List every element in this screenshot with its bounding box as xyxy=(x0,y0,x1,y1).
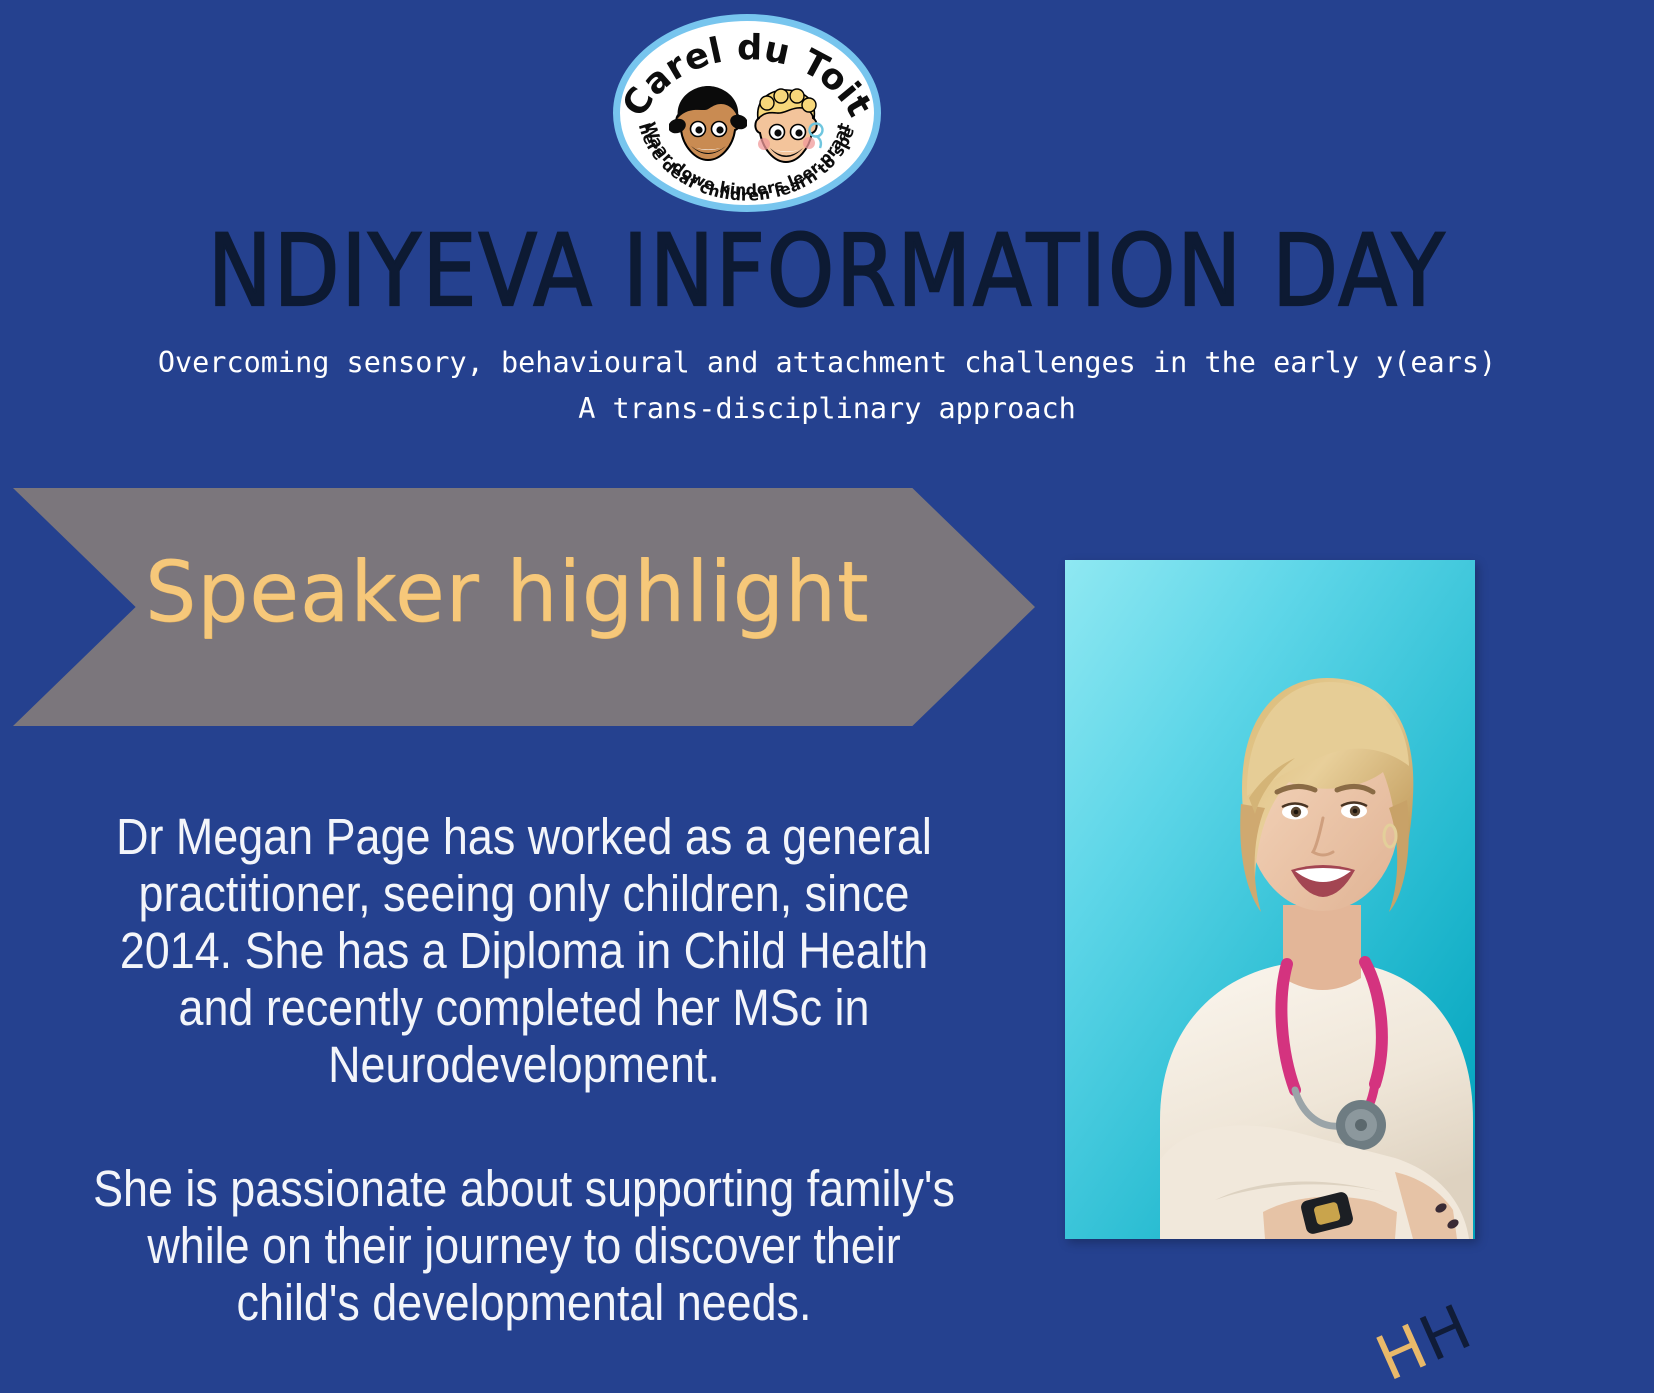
subtitle-line-1: Overcoming sensory, behavioural and atta… xyxy=(0,340,1654,386)
speaker-portrait-illustration xyxy=(1065,560,1475,1239)
page-title: NDIYEVA INFORMATION DAY xyxy=(58,222,1596,321)
bottom-decorative-text: HH xyxy=(1368,1236,1624,1393)
page-subtitle: Overcoming sensory, behavioural and atta… xyxy=(0,340,1654,432)
speaker-highlight-label: Speaker highlight xyxy=(145,548,932,636)
logo-curved-text: Carel du Toit Waar dowe kinders leer pra… xyxy=(613,14,881,212)
speaker-bio: Dr Megan Page has worked as a general pr… xyxy=(84,808,964,1331)
subtitle-line-2: A trans-disciplinary approach xyxy=(0,386,1654,432)
bio-paragraph-1: Dr Megan Page has worked as a general pr… xyxy=(84,808,964,1094)
poster-canvas: Carel du Toit Waar dowe kinders leer pra… xyxy=(0,0,1654,1393)
logo-top-text: Carel du Toit xyxy=(615,28,879,124)
carel-du-toit-logo: Carel du Toit Waar dowe kinders leer pra… xyxy=(613,14,881,212)
bio-spacer xyxy=(84,1094,964,1160)
speaker-portrait xyxy=(1065,560,1475,1239)
bio-paragraph-2: She is passionate about supporting famil… xyxy=(84,1160,964,1331)
